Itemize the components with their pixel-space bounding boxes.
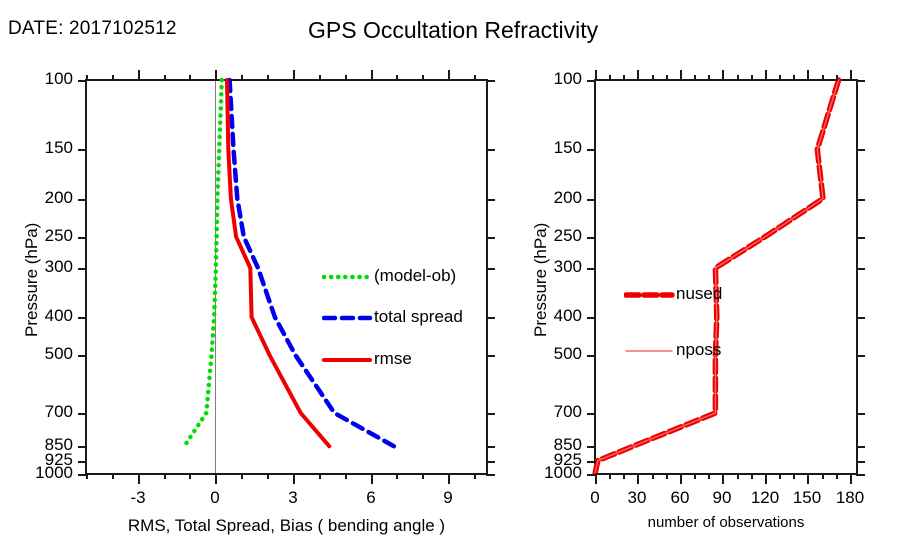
axis-tick	[856, 268, 865, 270]
axis-tick	[595, 473, 597, 484]
axis-tick	[587, 461, 596, 463]
axis-tick	[680, 70, 682, 81]
axis-tick	[722, 473, 724, 484]
y-tick-label: 200	[0, 188, 582, 208]
axis-tick	[856, 199, 865, 201]
axis-tick	[708, 75, 710, 81]
axis-tick	[836, 75, 838, 81]
figure-canvas: DATE: 2017102512 GPS Occultation Refract…	[0, 0, 900, 560]
y-tick-label: 100	[0, 69, 582, 89]
axis-tick	[652, 473, 654, 479]
right-plot-panel: 1001502002503004005007008509251000 03060…	[0, 0, 900, 560]
axis-tick	[856, 80, 865, 82]
y-tick-label: 400	[0, 306, 582, 326]
y-tick-label: 300	[0, 257, 582, 277]
axis-tick	[836, 473, 838, 479]
legend-swatch-nposs	[624, 344, 676, 358]
axis-tick	[850, 70, 852, 81]
axis-tick	[856, 237, 865, 239]
axis-tick	[793, 75, 795, 81]
axis-tick	[666, 473, 668, 479]
legend-label-nused: nused	[676, 284, 722, 304]
axis-tick	[856, 474, 865, 476]
axis-tick	[666, 75, 668, 81]
axis-tick	[737, 75, 739, 81]
series-line-nused	[595, 80, 839, 474]
y-tick-label: 1000	[0, 463, 582, 483]
axis-tick	[595, 70, 597, 81]
legend-swatch-nused	[624, 288, 676, 302]
axis-tick	[652, 75, 654, 81]
y-tick-label: 250	[0, 226, 582, 246]
legend-label-nposs: nposs	[676, 340, 721, 360]
axis-tick	[587, 149, 596, 151]
axis-tick	[587, 237, 596, 239]
axis-tick	[779, 75, 781, 81]
axis-tick	[587, 355, 596, 357]
y-tick-label: 500	[0, 344, 582, 364]
axis-tick	[694, 75, 696, 81]
y-tick-label: 700	[0, 402, 582, 422]
axis-tick	[587, 199, 596, 201]
axis-tick	[807, 473, 809, 484]
axis-tick	[856, 413, 865, 415]
axis-tick	[737, 473, 739, 479]
axis-tick	[779, 473, 781, 479]
axis-tick	[637, 473, 639, 484]
axis-tick	[850, 473, 852, 484]
axis-tick	[856, 317, 865, 319]
axis-tick	[807, 70, 809, 81]
axis-tick	[856, 461, 865, 463]
axis-tick	[751, 75, 753, 81]
axis-tick	[708, 473, 710, 479]
axis-tick	[680, 473, 682, 484]
axis-tick	[856, 446, 865, 448]
right-x-axis-title: number of observations	[495, 514, 900, 531]
axis-tick	[587, 317, 596, 319]
axis-tick	[765, 473, 767, 484]
right-y-axis-title: Pressure (hPa)	[531, 223, 551, 337]
axis-tick	[822, 473, 824, 479]
axis-tick	[694, 473, 696, 479]
axis-tick	[822, 75, 824, 81]
axis-tick	[609, 473, 611, 479]
axis-tick	[587, 413, 596, 415]
axis-tick	[609, 75, 611, 81]
y-tick-label: 150	[0, 138, 582, 158]
axis-tick	[623, 75, 625, 81]
axis-tick	[793, 473, 795, 479]
axis-tick	[751, 473, 753, 479]
axis-tick	[765, 70, 767, 81]
axis-tick	[587, 446, 596, 448]
axis-tick	[722, 70, 724, 81]
axis-tick	[623, 473, 625, 479]
axis-tick	[856, 149, 865, 151]
axis-tick	[587, 268, 596, 270]
axis-tick	[856, 355, 865, 357]
axis-tick	[637, 70, 639, 81]
x-tick-label: 180	[790, 488, 900, 508]
